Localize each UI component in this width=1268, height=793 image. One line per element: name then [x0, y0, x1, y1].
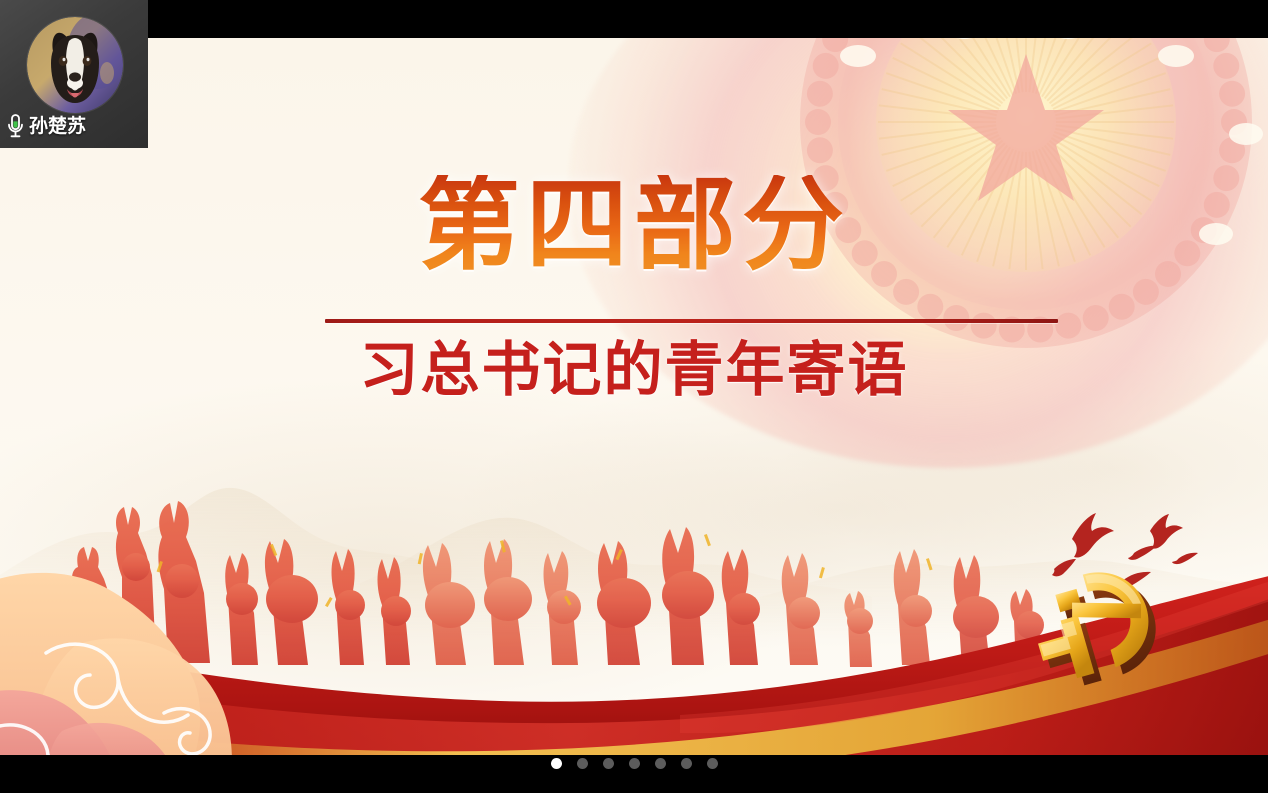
hammer-and-sickle-icon: [1006, 553, 1186, 703]
avatar: [27, 17, 123, 113]
pager-dot-7[interactable]: [707, 758, 718, 769]
pager-dot-3[interactable]: [603, 758, 614, 769]
participant-name-row: 孙楚苏: [5, 113, 86, 140]
slide-pager[interactable]: [0, 758, 1268, 769]
auspicious-cloud-motif: [0, 525, 470, 755]
pager-dot-1[interactable]: [551, 758, 562, 769]
pager-dot-4[interactable]: [629, 758, 640, 769]
pager-dot-2[interactable]: [577, 758, 588, 769]
slide-canvas[interactable]: 第四部分 习总书记的青年寄语: [0, 38, 1268, 755]
title-divider: [325, 319, 1058, 323]
pager-dot-5[interactable]: [655, 758, 666, 769]
presentation-window: 第四部分 习总书记的青年寄语: [0, 0, 1268, 793]
dog-photo-avatar: [27, 17, 123, 113]
pager-dot-6[interactable]: [681, 758, 692, 769]
participant-name: 孙楚苏: [29, 117, 86, 136]
page-title: 第四部分: [0, 175, 1268, 277]
microphone-icon[interactable]: [5, 113, 26, 140]
page-subtitle: 习总书记的青年寄语: [0, 336, 1268, 404]
participant-video-tile[interactable]: 孙楚苏: [0, 0, 148, 148]
